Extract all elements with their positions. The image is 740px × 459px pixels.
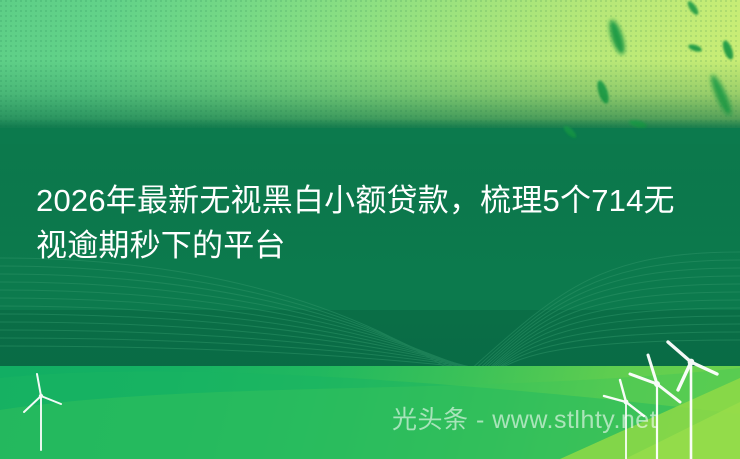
turbine-left-svg [14, 362, 84, 459]
leaves-svg [420, 0, 740, 200]
wind-turbine-group-right [600, 330, 740, 459]
leaf-icon [606, 18, 628, 56]
leaf-icon [707, 73, 734, 117]
leaf-icon [628, 119, 647, 130]
falling-leaves-group [420, 0, 740, 200]
leaf-icon [687, 43, 702, 53]
turbines-right-svg [600, 330, 740, 459]
wind-turbine-icon [24, 374, 61, 450]
cover-image: 2026年最新无视黑白小额贷款，梳理5个714无视逾期秒下的平台 光头条 - w… [0, 0, 740, 459]
page-title: 2026年最新无视黑白小额贷款，梳理5个714无视逾期秒下的平台 [0, 178, 740, 268]
leaf-icon [562, 124, 578, 140]
wind-turbine-icon [668, 342, 717, 459]
leaf-icon [721, 39, 735, 61]
leaf-icon [595, 79, 611, 105]
watermark-text: 光头条 - www.stlhty.net [392, 404, 657, 436]
wind-turbine-group-left [14, 362, 84, 459]
leaf-icon [686, 0, 700, 16]
